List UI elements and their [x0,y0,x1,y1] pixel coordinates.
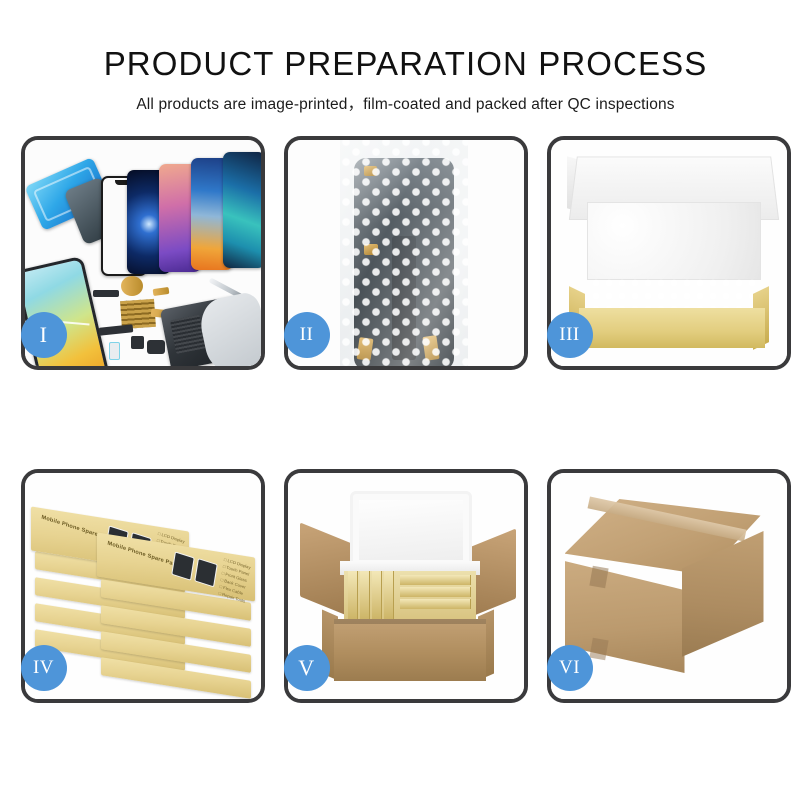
step-badge-5: V [284,645,330,691]
gold-box-flat [400,575,471,585]
step-badge-1: I [21,312,67,358]
page-subtitle: All products are image-printed，film-coat… [0,92,811,114]
tape-patch-upper-shape [589,566,608,588]
process-step-panel-2: II [284,136,528,370]
camera-lens-shape [121,276,143,296]
box-thumbnail-image [171,551,195,580]
process-step-panel-3: III [547,136,791,370]
process-step-grid: I II III [11,136,801,715]
plastic-sheen-shape [340,140,468,366]
process-step-panel-4: Mobile Phone Spare Parts □ LCD Display□ … [21,469,265,703]
gold-box-slat [360,571,370,619]
gold-box-flat [400,587,471,597]
speaker-part-shape [93,290,119,297]
cable-part-shape [98,324,133,336]
foam-sheet-shape [587,202,761,280]
step-badge-3: III [547,312,593,358]
step-badge-2: II [284,312,330,358]
box-thumbnail-image [194,558,218,587]
sim-tray-shape [109,342,120,360]
gold-box-slat [372,571,382,619]
box-front-face-shape [579,308,765,348]
gold-boxes-inside-shape [344,571,476,619]
process-step-panel-6: VI [547,469,791,703]
carton-front-face-shape [334,619,486,681]
flex-connector-shape [152,287,169,296]
phone-screen-teal-shape [223,152,261,268]
process-step-panel-5: V [284,469,528,703]
tape-patch-lower-shape [589,638,608,660]
page-header: PRODUCT PREPARATION PROCESS All products… [0,0,811,114]
button-part-shape [131,336,144,349]
step-badge-4: IV [21,645,67,691]
foam-lid-shape [350,491,472,569]
small-module-shape [147,340,165,354]
step-badge-6: VI [547,645,593,691]
bubble-wrapped-contents-shape [591,278,757,312]
process-step-panel-1: I [21,136,265,370]
gold-box-slat [348,571,358,619]
box-feature-list: □ LCD Display□ Touch Panel□ Front Glass□… [217,557,250,605]
box-label-text: Mobile Phone Spare Parts [106,540,180,569]
page-title: PRODUCT PREPARATION PROCESS [0,46,811,83]
gold-box-slat [384,571,394,619]
gold-box-flat [400,599,471,609]
